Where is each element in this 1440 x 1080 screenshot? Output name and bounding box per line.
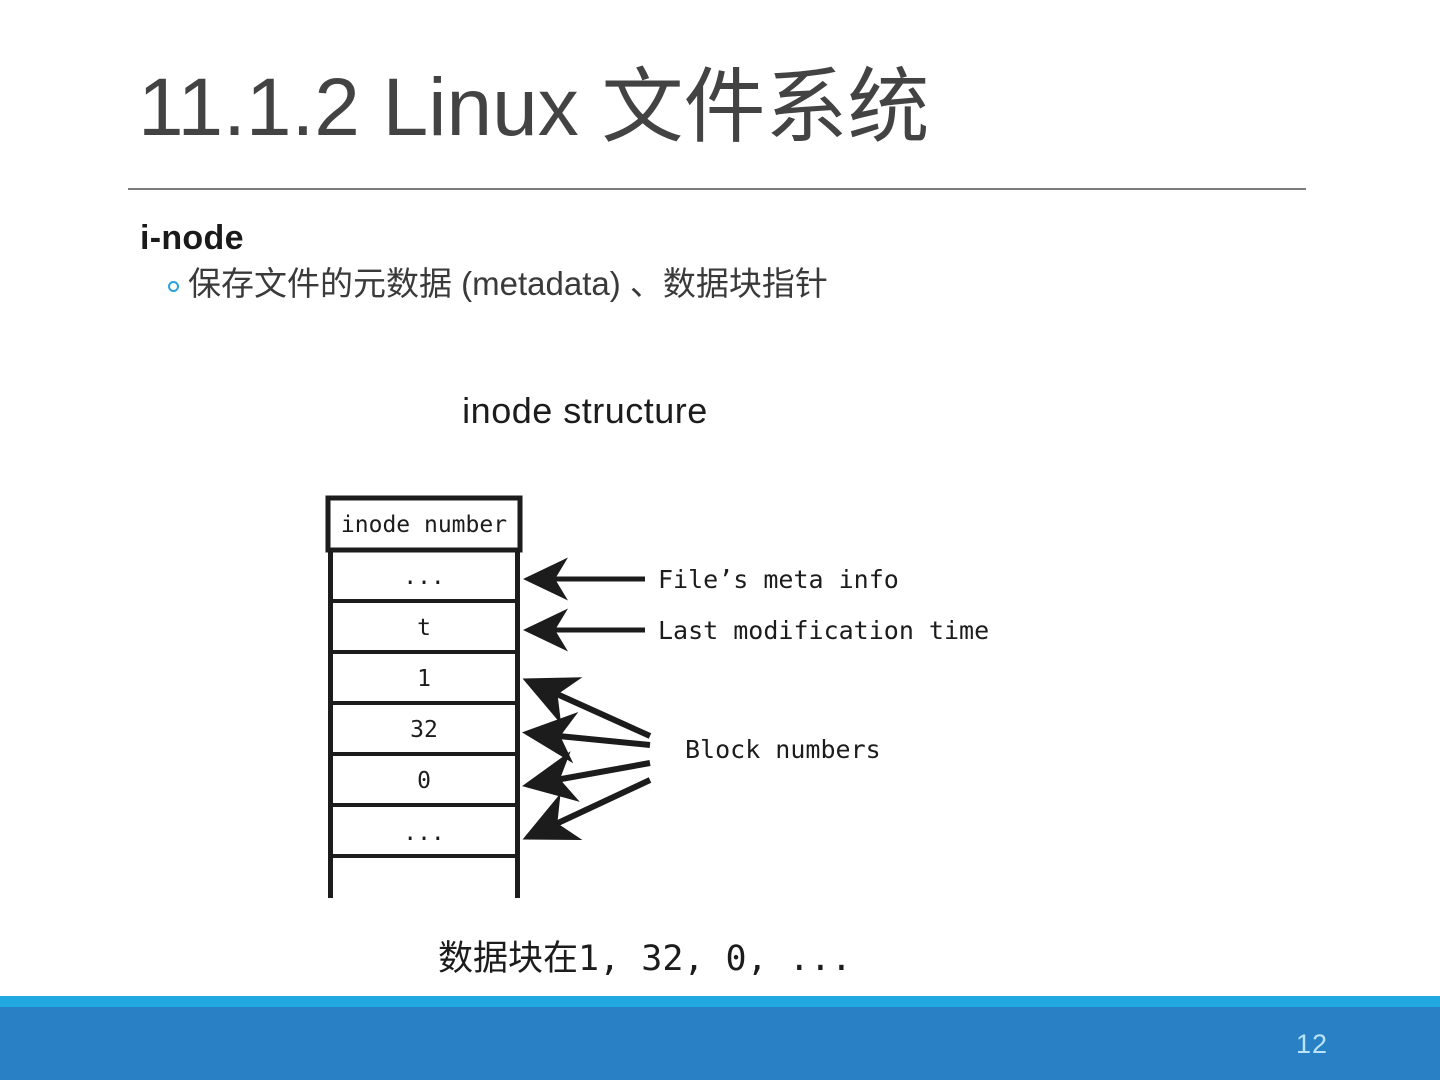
table-cell-inode-number: inode number (341, 512, 507, 538)
inode-diagram: inode number ... t 1 32 0 ... File’s met… (300, 480, 1020, 920)
table-cell-meta-ellipsis: ... (403, 564, 445, 590)
hollow-circle-bullet-icon (168, 281, 179, 292)
footer-band (0, 1007, 1440, 1080)
sub-bullet-label: 保存文件的元数据 (metadata) 、数据块指针 (188, 266, 828, 302)
inode-table (328, 498, 520, 898)
annotation-file-meta-info: File’s meta info (658, 565, 899, 594)
page-number: 12 (1296, 1029, 1328, 1060)
annotation-block-numbers: Block numbers (685, 735, 881, 764)
table-cell-block-ellipsis: ... (403, 820, 445, 846)
title-divider (128, 188, 1306, 190)
table-cell-block-1: 1 (417, 666, 431, 692)
annotation-last-modification-time: Last modification time (658, 616, 989, 645)
arrow-block-0 (528, 763, 650, 785)
arrow-block-32 (528, 733, 650, 745)
figure-caption: inode structure (0, 390, 1170, 432)
arrow-block-1 (528, 681, 650, 736)
footer-accent-strip (0, 996, 1440, 1007)
table-cell-block-32: 32 (410, 717, 438, 743)
table-cell-block-0: 0 (417, 768, 431, 794)
figure-bottom-caption: 数据块在1, 32, 0, ... (0, 930, 1290, 981)
sub-bullet-item: 保存文件的元数据 (metadata) 、数据块指针 (168, 266, 828, 302)
bottom-caption-values: 1, 32, 0, ... (578, 939, 852, 979)
bottom-caption-prefix: 数据块在 (438, 939, 578, 978)
arrow-block-ellipsis (528, 780, 650, 837)
table-cell-mtime: t (417, 615, 431, 641)
bullet-heading-inode: i-node (140, 219, 244, 258)
table-row-header-outline (328, 498, 520, 550)
page-title: 11.1.2 Linux 文件系统 (138, 62, 930, 154)
